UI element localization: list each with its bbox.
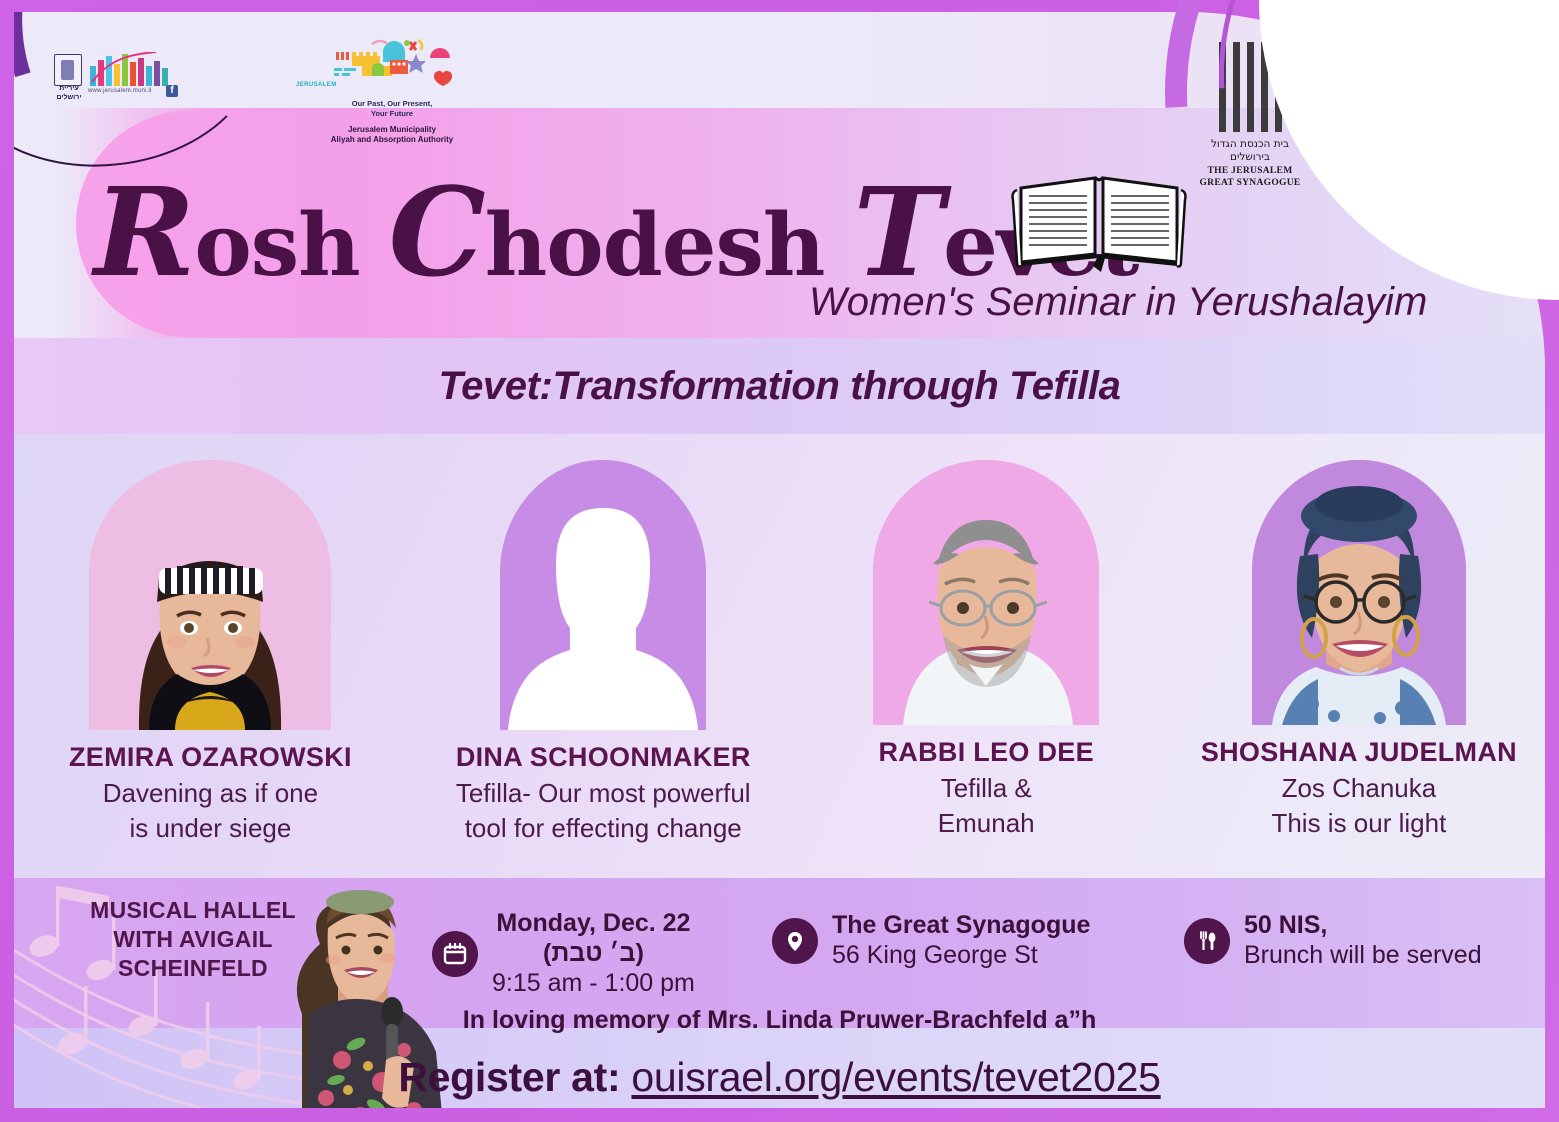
speaker-topic-line1: Tefilla &: [800, 771, 1173, 806]
facebook-icon[interactable]: f: [166, 85, 178, 97]
event-price-note: Brunch will be served: [1244, 940, 1482, 971]
open-book-icon: [1009, 162, 1189, 272]
event-date: Monday, Dec. 22: [492, 908, 695, 938]
title-cap-r: R: [94, 160, 194, 304]
event-time: 9:15 am - 1:00 pm: [492, 968, 695, 999]
register-line: Register at: ouisrael.org/events/tevet20…: [14, 1054, 1545, 1101]
logo-aliyah-absorption: JERUSALEM Our Past, Our Present, Your Fu…: [292, 38, 492, 128]
aliyah-authority-line1: Jerusalem Municipality: [292, 125, 492, 135]
speaker-card: DINA SCHOONMAKER Tefilla- Our most power…: [407, 460, 800, 846]
speaker-list: ZEMIRA OZAROWSKI Davening as if one is u…: [14, 460, 1545, 880]
title-part-osh: osh: [194, 195, 388, 296]
aliyah-tagline-line2: Your Future: [292, 109, 492, 119]
register-label: Register at:: [398, 1054, 620, 1100]
speaker-name: SHOSHANA JUDELMAN: [1173, 737, 1545, 767]
calendar-icon: [432, 931, 478, 977]
cutlery-icon: [1184, 918, 1230, 964]
placeholder-silhouette-icon: [500, 460, 706, 730]
jerusalem-municipality-url: www.jerusalem.muni.il: [88, 88, 152, 94]
event-date-hebrew: (ב׳ טבת): [492, 938, 695, 968]
event-price: 50 NIS,: [1244, 910, 1482, 940]
speaker-topic-line2: Emunah: [800, 806, 1173, 841]
speaker-topic: Davening as if one is under siege: [14, 776, 407, 846]
event-location-block: The Great Synagogue 56 King George St: [772, 910, 1090, 971]
headshot-zemira-icon: [89, 460, 331, 730]
event-price-block: 50 NIS, Brunch will be served: [1184, 910, 1482, 971]
jerusalem-wordmark: JERUSALEM: [296, 82, 337, 88]
aliyah-tagline-line1: Our Past, Our Present,: [352, 99, 432, 108]
jerusalem-illustration-icon: [332, 38, 452, 86]
speaker-topic: Zos Chanuka This is our light: [1173, 771, 1545, 841]
speaker-topic-line2: This is our light: [1173, 806, 1545, 841]
aliyah-authority: Jerusalem Municipality Aliyah and Absorp…: [292, 125, 492, 145]
map-pin-icon: [772, 918, 818, 964]
headshot-shoshana-icon: [1252, 460, 1466, 725]
event-date-block: Monday, Dec. 22 (ב׳ טבת) 9:15 am - 1:00 …: [432, 908, 695, 999]
speaker-card: ZEMIRA OZAROWSKI Davening as if one is u…: [14, 460, 407, 846]
speaker-topic-line1: Tefilla- Our most powerful: [407, 776, 800, 811]
speaker-topic-line2: is under siege: [14, 811, 407, 846]
jerusalem-crest-icon: [54, 54, 82, 86]
aliyah-authority-line2: Aliyah and Absorption Authority: [292, 135, 492, 145]
speaker-topic: Tefilla- Our most powerful tool for effe…: [407, 776, 800, 846]
jerusalem-municipality-hebrew: עיריית ירושלים: [52, 84, 86, 102]
speaker-photo: [1252, 460, 1466, 725]
event-flyer: עיריית ירושלים www.jerusalem.muni.il f: [0, 0, 1559, 1122]
speaker-card: SHOSHANA JUDELMAN Zos Chanuka This is ou…: [1173, 460, 1545, 841]
logo-jerusalem-municipality: עיריית ירושלים www.jerusalem.muni.il f: [54, 52, 204, 102]
speaker-name: RABBI LEO DEE: [800, 737, 1173, 767]
speaker-photo: [500, 460, 706, 730]
venue-name: The Great Synagogue: [832, 910, 1090, 940]
cityscape-icon: [90, 52, 170, 86]
title-cap-c: C: [389, 160, 485, 304]
speaker-name: DINA SCHOONMAKER: [407, 742, 800, 772]
speaker-photo: [873, 460, 1099, 725]
speaker-card: RABBI LEO DEE Tefilla & Emunah: [800, 460, 1173, 841]
speaker-topic: Tefilla & Emunah: [800, 771, 1173, 841]
register-url-link[interactable]: ouisrael.org/events/tevet2025: [631, 1054, 1160, 1100]
seminar-theme: Tevet:Transformation through Tefilla: [14, 364, 1545, 409]
headshot-leo-dee-icon: [873, 460, 1099, 725]
speaker-topic-line1: Zos Chanuka: [1173, 771, 1545, 806]
speaker-topic-line2: tool for effecting change: [407, 811, 800, 846]
in-memory-note: In loving memory of Mrs. Linda Pruwer-Br…: [14, 1006, 1545, 1035]
speaker-name: ZEMIRA OZAROWSKI: [14, 742, 407, 772]
aliyah-tagline: Our Past, Our Present, Your Future: [292, 99, 492, 118]
speaker-topic-line1: Davening as if one: [14, 776, 407, 811]
speaker-photo: [89, 460, 331, 730]
title-part-hodesh: hodesh: [485, 195, 854, 296]
venue-address: 56 King George St: [832, 940, 1090, 971]
